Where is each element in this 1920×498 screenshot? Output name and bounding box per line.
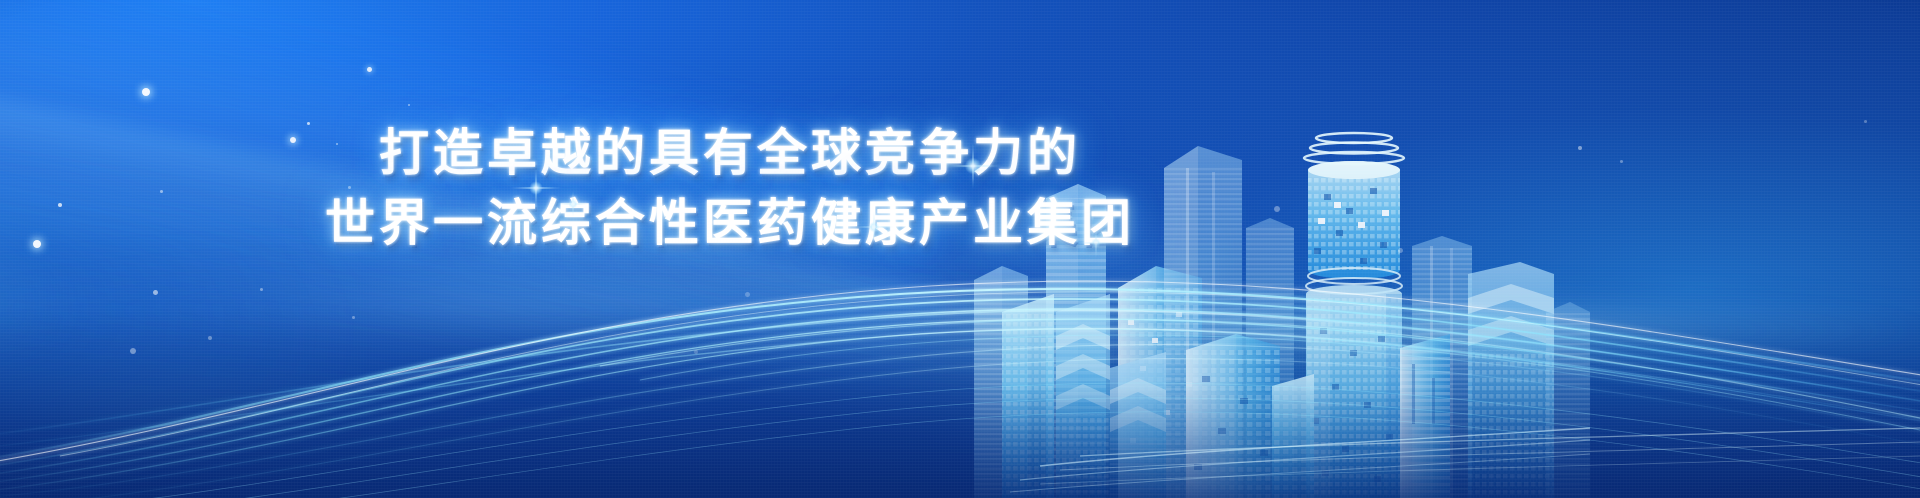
hero-banner: 打造卓越的具有全球竞争力的 世界一流综合性医药健康产业集团 <box>0 0 1920 498</box>
vignette-overlay <box>0 0 1920 498</box>
